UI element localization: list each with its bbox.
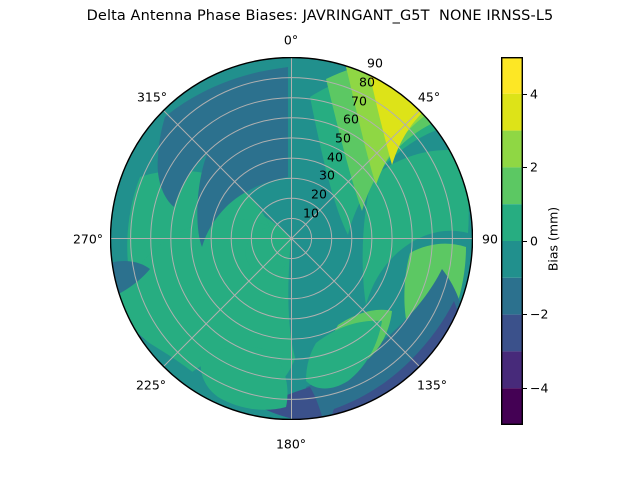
colorbar-band-6 <box>501 204 523 241</box>
radial-tick-60: 60 <box>343 112 359 127</box>
colorbar-bands <box>501 57 523 425</box>
angular-tick-90: 90 <box>482 232 498 247</box>
colorbar-tick-mark-m2 <box>523 314 527 315</box>
colorbar-band-8 <box>501 131 523 168</box>
colorbar-tick-mark-0 <box>523 241 527 242</box>
colorbar-tick-mark-m4 <box>523 388 527 389</box>
colorbar-gradient <box>501 57 523 425</box>
angular-tick-180: 180° <box>276 437 306 452</box>
colorbar-tick-label-4: 4 <box>530 87 538 102</box>
figure-canvas: Delta Antenna Phase Biases: JAVRINGANT_G… <box>0 0 640 480</box>
radial-tick-40: 40 <box>327 150 343 165</box>
angular-tick-45: 45° <box>418 90 440 105</box>
polar-plot-area <box>110 57 473 420</box>
radial-tick-20: 20 <box>311 187 327 202</box>
radial-tick-10: 10 <box>303 206 319 221</box>
colorbar-band-1 <box>501 388 523 425</box>
radial-tick-80: 80 <box>359 75 375 90</box>
radial-tick-30: 30 <box>319 168 335 183</box>
polar-contour-svg <box>110 57 473 420</box>
radial-tick-70: 70 <box>351 94 367 109</box>
colorbar-axis-label: Bias (mm) <box>546 207 561 271</box>
colorbar-tick-label-0: 0 <box>530 234 538 249</box>
radial-tick-90: 90 <box>367 56 383 71</box>
angular-tick-225: 225° <box>136 378 166 393</box>
colorbar-band-9 <box>501 94 523 131</box>
colorbar-band-3 <box>501 315 523 352</box>
angular-tick-315: 315° <box>137 90 167 105</box>
polar-grid-spokes <box>111 58 473 420</box>
colorbar[interactable] <box>501 57 523 425</box>
colorbar-band-2 <box>501 351 523 388</box>
colorbar-band-4 <box>501 278 523 315</box>
colorbar-band-5 <box>501 241 523 278</box>
colorbar-tick-mark-4 <box>523 94 527 95</box>
colorbar-tick-mark-2 <box>523 167 527 168</box>
angular-tick-135: 135° <box>417 378 447 393</box>
radial-tick-50: 50 <box>335 131 351 146</box>
angular-tick-270: 270° <box>73 232 103 247</box>
colorbar-band-10 <box>501 57 523 94</box>
colorbar-band-7 <box>501 167 523 204</box>
colorbar-tick-label-m2: −2 <box>530 307 548 322</box>
angular-tick-0: 0° <box>284 33 298 48</box>
colorbar-tick-label-m4: −4 <box>530 381 548 396</box>
chart-title: Delta Antenna Phase Biases: JAVRINGANT_G… <box>0 8 640 24</box>
colorbar-tick-label-2: 2 <box>530 160 538 175</box>
